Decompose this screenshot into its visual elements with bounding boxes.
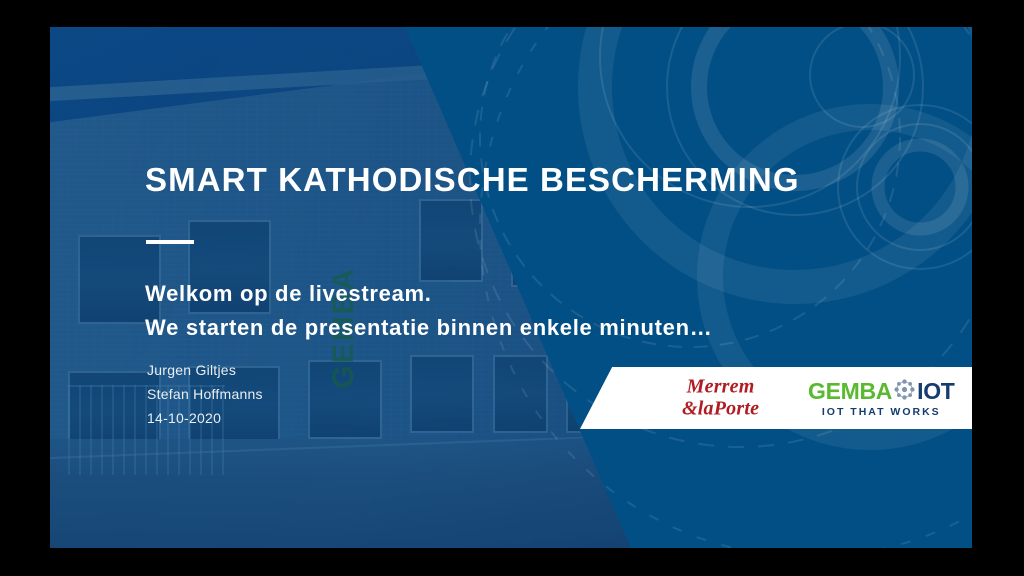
network-nodes-icon (894, 379, 915, 405)
gemba-logo-wordmark: GEMBA (808, 378, 955, 405)
gemba-iot-logo: GEMBA (808, 378, 955, 418)
presenter-name-2: Stefan Hoffmanns (147, 382, 263, 406)
presentation-date: 14-10-2020 (147, 406, 263, 430)
presenter-info: Jurgen Giltjes Stefan Hoffmanns 14-10-20… (147, 358, 263, 430)
page-title: SMART KATHODISCHE BESCHERMING (145, 162, 800, 198)
gemba-logo-tagline: IOT THAT WORKS (808, 406, 955, 418)
merrem-logo-line-1: Merrem (687, 375, 755, 397)
slide-content: SMART KATHODISCHE BESCHERMING Welkom op … (145, 27, 905, 548)
merrem-laporte-logo: Merrem &laPorte (682, 376, 759, 419)
presenter-name-1: Jurgen Giltjes (147, 358, 263, 382)
presentation-slide: GEMBA (50, 27, 972, 548)
gemba-logo-word: GEMBA (808, 378, 892, 405)
gemba-logo-iot: IOT (917, 378, 954, 405)
screenshot-stage: GEMBA (0, 0, 1024, 576)
subtitle-line-2: We starten de presentatie binnen enkele … (145, 311, 712, 345)
logo-bar: Merrem &laPorte GEMBA (580, 367, 972, 429)
title-divider-rule (146, 240, 194, 244)
subtitle-line-1: Welkom op de livestream. (145, 277, 712, 311)
slide-subtitle: Welkom op de livestream. We starten de p… (145, 277, 712, 345)
merrem-logo-line-2: &laPorte (682, 398, 759, 420)
